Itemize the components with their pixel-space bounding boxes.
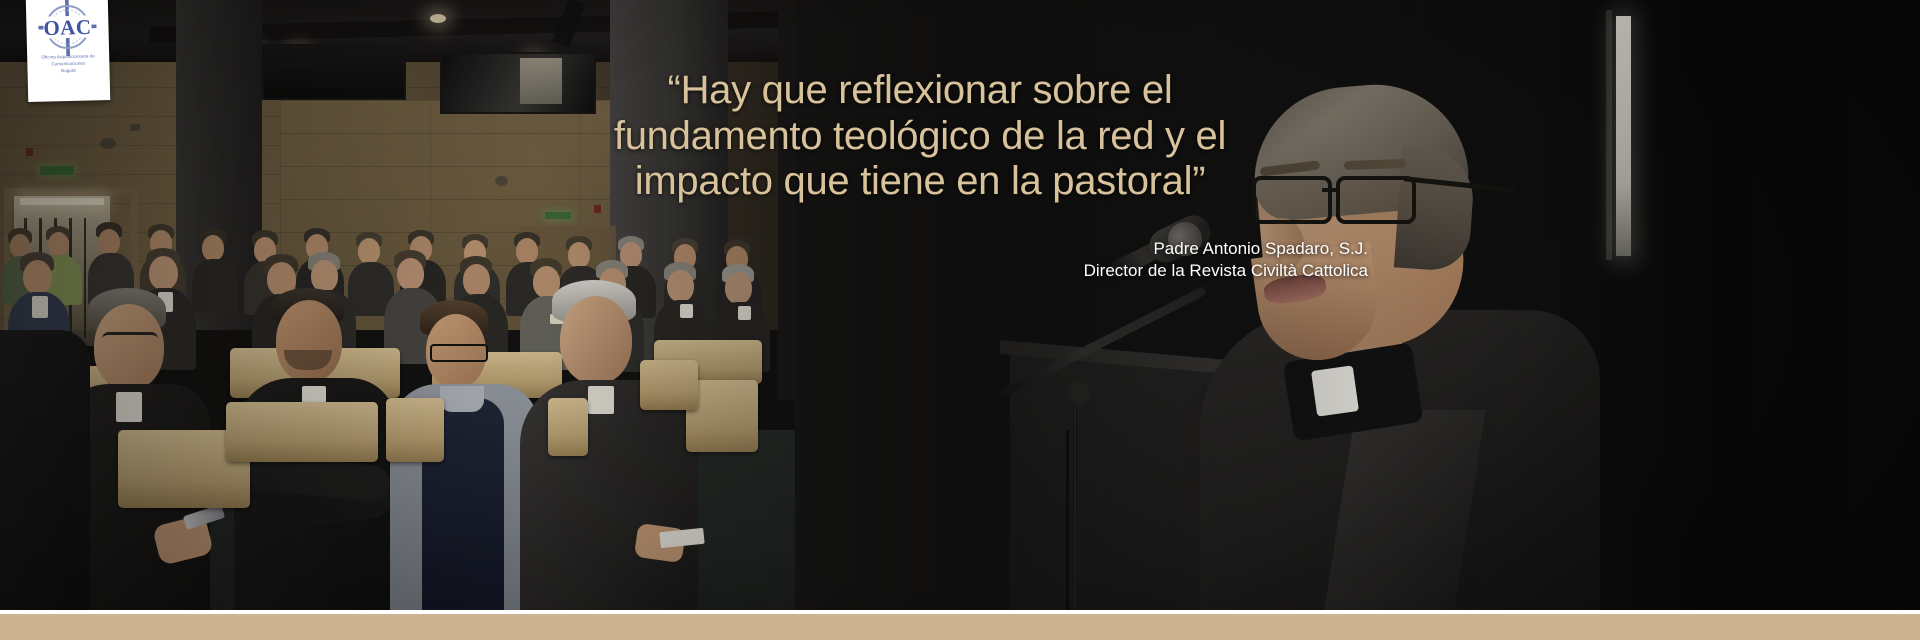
speaker-roman-collar: [1311, 365, 1359, 416]
seat-back: [386, 398, 444, 462]
eyeglass-lens-right: [1336, 176, 1416, 224]
eyeglasses: [430, 344, 488, 362]
seat-back: [548, 398, 588, 456]
stage-curtain: [1560, 0, 1920, 610]
oac-emblem-icon: OAC: [26, 0, 109, 59]
eyeglass-bridge: [1322, 188, 1340, 192]
attribution-block: Padre Antonio Spadaro, S.J. Director de …: [640, 238, 1368, 282]
oac-logo[interactable]: OAC Oficina Arquidiocesana de Comunicaci…: [26, 0, 111, 102]
svg-text:OAC: OAC: [43, 15, 92, 40]
quote-banner: “Hay que reflexionar sobre el fundamento…: [0, 0, 1920, 640]
microphone-cable: [1066, 430, 1069, 610]
oac-logo-mark: OAC: [26, 0, 109, 59]
shirt-collar: [440, 386, 484, 412]
quote-block: “Hay que reflexionar sobre el fundamento…: [560, 68, 1280, 205]
oac-logo-subtitle: Oficina Arquidiocesana de Comunicaciones…: [27, 53, 109, 75]
light-strip-frame: [1606, 10, 1612, 260]
microphone-boom-joint: [1068, 382, 1090, 404]
tan-footer-bar: [0, 614, 1920, 640]
background-light-strip: [1616, 16, 1631, 256]
seat-back: [226, 402, 378, 462]
microphone-stand: [1073, 400, 1077, 610]
quote-line-1: “Hay que reflexionar sobre el: [560, 68, 1280, 114]
seat-back: [640, 360, 698, 410]
oac-subtitle-line-3: Bogotá: [27, 67, 109, 76]
quote-line-3: impacto que tiene en la pastoral”: [560, 159, 1280, 205]
attribution-title: Director de la Revista Civiltà Cattolica: [640, 260, 1368, 282]
attribution-name: Padre Antonio Spadaro, S.J.: [640, 238, 1368, 260]
quote-line-2: fundamento teológico de la red y el: [560, 114, 1280, 160]
